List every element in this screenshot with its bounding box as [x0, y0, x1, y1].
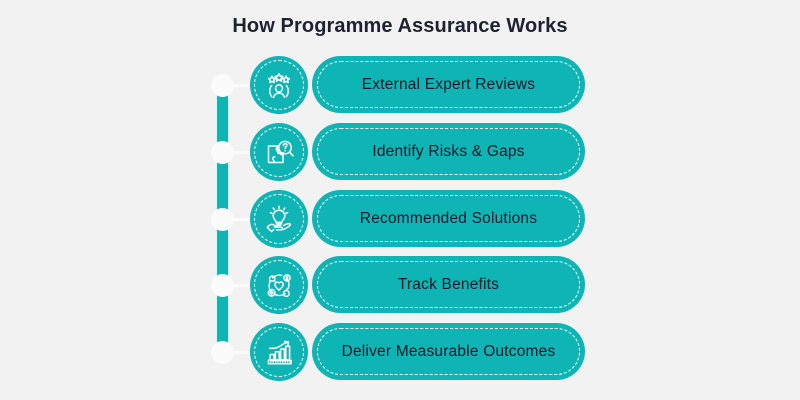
stars-reviewer-icon — [250, 56, 308, 114]
step-label: Track Benefits — [312, 256, 585, 313]
timeline-node-dot — [211, 208, 234, 231]
timeline-node-dot — [211, 274, 234, 297]
timeline-step-3[interactable]: Recommended Solutions — [0, 190, 800, 248]
timeline-step-5[interactable]: Deliver Measurable Outcomes — [0, 323, 800, 381]
puzzle-magnifier-question-icon — [250, 123, 308, 181]
timeline-node-dot — [211, 141, 234, 164]
timeline-step-4[interactable]: Track Benefits — [0, 256, 800, 314]
infographic-canvas: How Programme Assurance Works — [0, 0, 800, 400]
step-pill-5[interactable]: Deliver Measurable Outcomes — [312, 323, 585, 380]
step-label: External Expert Reviews — [312, 56, 585, 113]
step-label: Deliver Measurable Outcomes — [312, 323, 585, 380]
step-label: Identify Risks & Gaps — [312, 123, 585, 180]
timeline-node-dot — [211, 74, 234, 97]
step-pill-1[interactable]: External Expert Reviews — [312, 56, 585, 113]
timeline-steps: External Expert Reviews — [0, 0, 800, 400]
step-label: Recommended Solutions — [312, 190, 585, 247]
timeline-step-1[interactable]: External Expert Reviews — [0, 56, 800, 114]
step-pill-2[interactable]: Identify Risks & Gaps — [312, 123, 585, 180]
lightbulb-in-hand-icon — [250, 190, 308, 248]
timeline-step-2[interactable]: Identify Risks & Gaps — [0, 123, 800, 181]
bar-chart-growth-ruler-icon — [250, 323, 308, 381]
step-pill-4[interactable]: Track Benefits — [312, 256, 585, 313]
heart-network-benefits-icon — [250, 256, 308, 314]
step-pill-3[interactable]: Recommended Solutions — [312, 190, 585, 247]
timeline-node-dot — [211, 341, 234, 364]
